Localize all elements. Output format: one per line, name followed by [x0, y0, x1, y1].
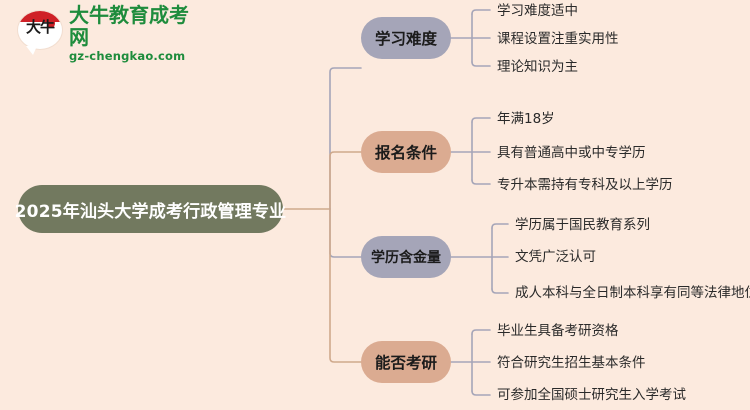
leaf-label: 可参加全国硕士研究生入学考试: [497, 389, 686, 403]
leaf-label: 学习难度适中: [497, 5, 578, 19]
branch-node-postgraduate-eligibility[interactable]: 能否考研: [361, 341, 451, 383]
leaf-label: 课程设置注重实用性: [497, 33, 619, 47]
wire-leaf-0-0: [472, 10, 490, 14]
leaf-label: 学历属于国民教育系列: [515, 219, 650, 233]
wire-spine-branch-2: [330, 209, 361, 257]
leaf-label: 符合研究生招生基本条件: [497, 357, 646, 371]
leaf-label: 毕业生具备考研资格: [497, 325, 619, 339]
wire-spine-branch-3: [330, 209, 361, 362]
leaf-label: 年满18岁: [497, 113, 555, 127]
wire-leaf-3-2: [472, 391, 490, 395]
root-node[interactable]: 2025年汕头大学成考行政管理专业: [18, 185, 283, 233]
leaf-label: 文凭广泛认可: [515, 251, 596, 265]
wire-leaf-0-2: [472, 62, 490, 66]
wire-leaf-1-0: [472, 118, 490, 122]
branch-node-degree-value[interactable]: 学历含金量: [361, 236, 451, 278]
leaf-label: 成人本科与全日制本科享有同等法律地位: [515, 287, 750, 301]
wire-leaf-1-2: [472, 180, 490, 184]
leaf-label: 理论知识为主: [497, 61, 578, 75]
leaf-label: 专升本需持有专科及以上学历: [497, 179, 673, 193]
wire-spine-branch-1: [330, 152, 361, 209]
leaf-label: 具有普通高中或中专学历: [497, 147, 646, 161]
wire-leaf-3-0: [472, 330, 490, 334]
wire-leaf-2-2: [492, 289, 508, 293]
mindmap-canvas: 大牛 大牛教育成考网 gz-chengkao.com: [0, 0, 750, 410]
wire-leaf-2-0: [492, 224, 508, 228]
branch-node-study-difficulty[interactable]: 学习难度: [361, 17, 451, 59]
branch-node-application-requirements[interactable]: 报名条件: [361, 131, 451, 173]
wire-spine-branch-0: [330, 68, 361, 209]
